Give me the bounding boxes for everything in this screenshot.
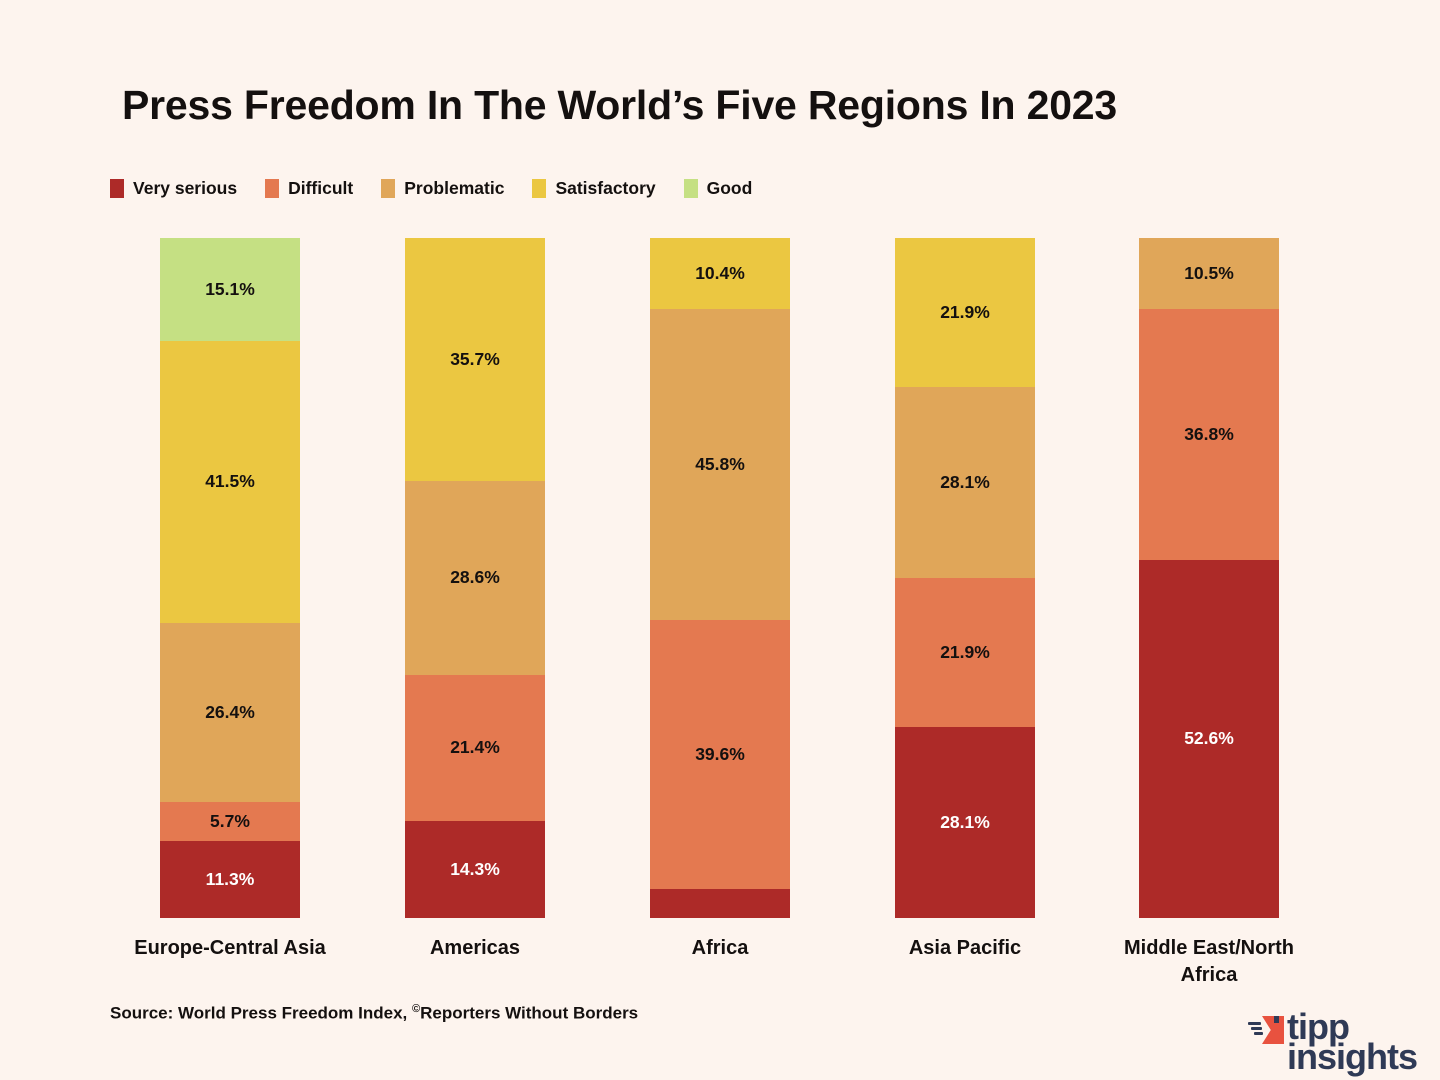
- legend-item[interactable]: Satisfactory: [532, 178, 655, 199]
- bar-segment-value: 26.4%: [205, 702, 255, 723]
- bar-segment[interactable]: 5.7%: [160, 802, 300, 841]
- bar-segment-value: 10.4%: [695, 263, 745, 284]
- bar-segment[interactable]: 21.9%: [895, 578, 1035, 727]
- bar-segment[interactable]: 45.8%: [650, 309, 790, 620]
- category-label-line: Asia Pacific: [865, 935, 1065, 962]
- category-label: Americas: [375, 935, 575, 962]
- bar-segment[interactable]: 14.3%: [405, 821, 545, 918]
- logo-wordmark: tipp insights: [1287, 1012, 1417, 1072]
- logo-line-2: insights: [1287, 1042, 1417, 1072]
- bar-segment-value: 28.1%: [940, 472, 990, 493]
- bar-segment[interactable]: 52.6%: [1139, 560, 1279, 918]
- bar-segment[interactable]: 15.1%: [160, 238, 300, 341]
- bar-segment[interactable]: 28.6%: [405, 481, 545, 675]
- legend-swatch-icon: [265, 179, 279, 198]
- bar-segment[interactable]: [650, 889, 790, 918]
- stacked-bar: 10.5%36.8%52.6%: [1139, 238, 1279, 918]
- chart-legend: Very seriousDifficultProblematicSatisfac…: [110, 178, 780, 199]
- category-label-line: Americas: [375, 935, 575, 962]
- bar-segment[interactable]: 35.7%: [405, 238, 545, 481]
- source-note: Source: World Press Freedom Index, ©Repo…: [110, 1003, 638, 1024]
- category-label: Middle East/NorthAfrica: [1109, 935, 1309, 989]
- category-label: Asia Pacific: [865, 935, 1065, 962]
- chart-root: Press Freedom In The World’s Five Region…: [0, 0, 1440, 1080]
- bar-segment[interactable]: 26.4%: [160, 623, 300, 803]
- bar-segment-value: 21.9%: [940, 302, 990, 323]
- bar-segment[interactable]: 36.8%: [1139, 309, 1279, 559]
- bar-segment-value: 39.6%: [695, 744, 745, 765]
- category-label-line: Africa: [1109, 962, 1309, 989]
- bar-segment[interactable]: 39.6%: [650, 620, 790, 889]
- bar-segment-value: 21.4%: [450, 737, 500, 758]
- bar-segment[interactable]: 28.1%: [895, 727, 1035, 918]
- bar-segment-value: 35.7%: [450, 349, 500, 370]
- bar-segment-value: 5.7%: [210, 811, 250, 832]
- bar-segment-value: 28.6%: [450, 567, 500, 588]
- legend-swatch-icon: [532, 179, 546, 198]
- chart-plot-area: 15.1%41.5%26.4%5.7%11.3%35.7%28.6%21.4%1…: [0, 238, 1440, 918]
- bar-segment[interactable]: 11.3%: [160, 841, 300, 918]
- bar-segment-value: 45.8%: [695, 454, 745, 475]
- bar-group: 15.1%41.5%26.4%5.7%11.3%: [160, 238, 300, 918]
- legend-item[interactable]: Problematic: [381, 178, 504, 199]
- bar-segment-value: 15.1%: [205, 279, 255, 300]
- category-label: Europe-Central Asia: [130, 935, 330, 962]
- bar-segment-value: 21.9%: [940, 642, 990, 663]
- bar-segment[interactable]: 21.9%: [895, 238, 1035, 387]
- category-label-line: Africa: [620, 935, 820, 962]
- bar-segment-value: 36.8%: [1184, 424, 1234, 445]
- bar-segment-value: 28.1%: [940, 812, 990, 833]
- source-prefix: Source: World Press Freedom Index,: [110, 1004, 412, 1023]
- stacked-bar: 35.7%28.6%21.4%14.3%: [405, 238, 545, 918]
- legend-swatch-icon: [381, 179, 395, 198]
- bar-segment-value: 52.6%: [1184, 728, 1234, 749]
- bar-segment-value: 10.5%: [1184, 263, 1234, 284]
- bar-group: 21.9%28.1%21.9%28.1%: [895, 238, 1035, 918]
- bar-segment-value: 11.3%: [206, 869, 255, 890]
- legend-item-label: Satisfactory: [555, 178, 655, 199]
- legend-item[interactable]: Good: [684, 178, 753, 199]
- legend-swatch-icon: [684, 179, 698, 198]
- bar-group: 35.7%28.6%21.4%14.3%: [405, 238, 545, 918]
- bar-group: 10.4%45.8%39.6%: [650, 238, 790, 918]
- bar-segment[interactable]: 41.5%: [160, 341, 300, 623]
- stacked-bar: 15.1%41.5%26.4%5.7%11.3%: [160, 238, 300, 918]
- category-label: Africa: [620, 935, 820, 962]
- source-suffix: Reporters Without Borders: [420, 1004, 638, 1023]
- legend-item-label: Good: [707, 178, 753, 199]
- stacked-bar: 10.4%45.8%39.6%: [650, 238, 790, 918]
- legend-swatch-icon: [110, 179, 124, 198]
- copyright-symbol: ©: [412, 1003, 420, 1015]
- category-label-line: Europe-Central Asia: [130, 935, 330, 962]
- bar-segment[interactable]: 10.5%: [1139, 238, 1279, 309]
- tipp-flag-icon: [1248, 1016, 1284, 1044]
- tipp-insights-logo[interactable]: tipp insights: [1248, 1012, 1417, 1072]
- legend-item[interactable]: Very serious: [110, 178, 237, 199]
- category-label-line: Middle East/North: [1109, 935, 1309, 962]
- bar-segment[interactable]: 21.4%: [405, 675, 545, 821]
- page-title: Press Freedom In The World’s Five Region…: [122, 82, 1117, 129]
- legend-item-label: Difficult: [288, 178, 353, 199]
- stacked-bar: 21.9%28.1%21.9%28.1%: [895, 238, 1035, 918]
- legend-item-label: Problematic: [404, 178, 504, 199]
- legend-item-label: Very serious: [133, 178, 237, 199]
- bar-segment[interactable]: 10.4%: [650, 238, 790, 309]
- bar-segment-value: 41.5%: [205, 471, 255, 492]
- bar-group: 10.5%36.8%52.6%: [1139, 238, 1279, 918]
- legend-item[interactable]: Difficult: [265, 178, 353, 199]
- bar-segment[interactable]: 28.1%: [895, 387, 1035, 578]
- bar-segment-value: 14.3%: [450, 859, 500, 880]
